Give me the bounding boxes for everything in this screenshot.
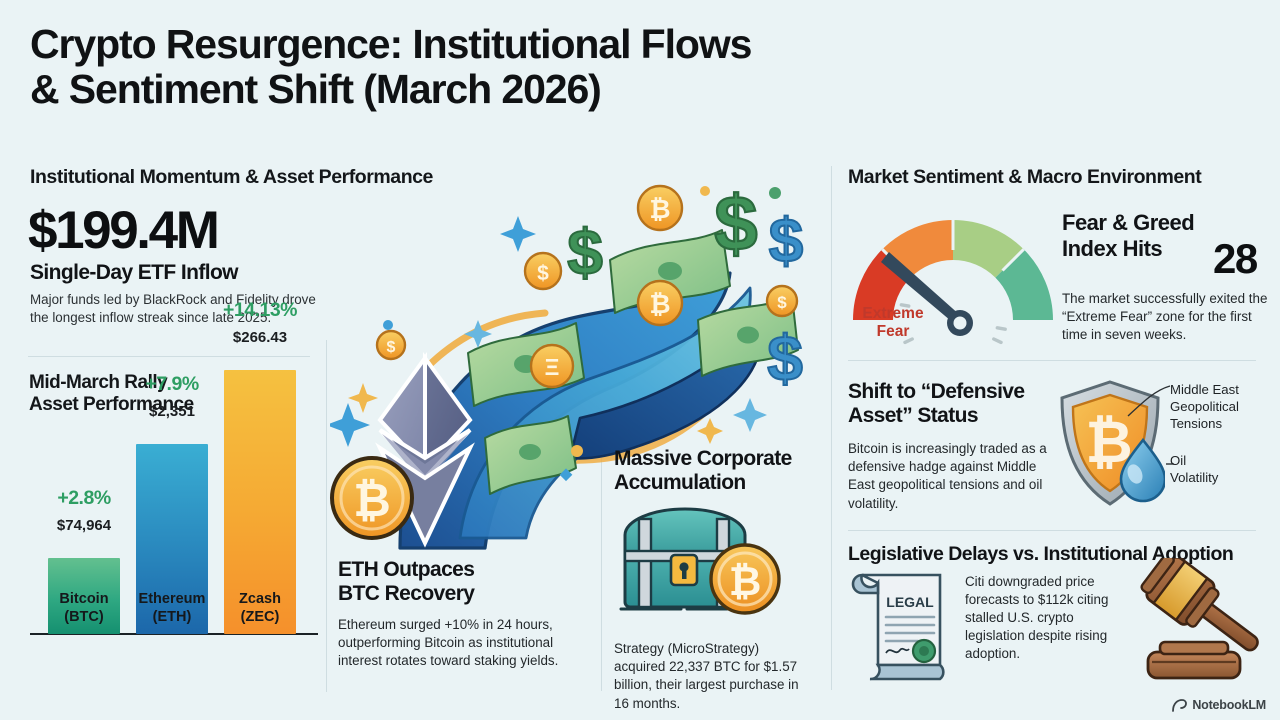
svg-text:$: $ [387, 339, 396, 356]
bar-label-eth: Ethereum (ETH) [139, 591, 206, 626]
corporate-card-body: Strategy (MicroStrategy) acquired 22,337… [614, 640, 814, 713]
svg-text:₿: ₿ [649, 289, 670, 319]
svg-text:₿: ₿ [729, 560, 762, 604]
bar-price-eth: $2,351 [149, 403, 195, 420]
divider-left-center [326, 340, 327, 692]
money-flow-illustration: $ $ $ $ ₿ $ ₿ Ξ $ $ [330, 168, 830, 553]
bar-pct-btc: +2.8% [57, 487, 110, 510]
divider-right-legislative [848, 530, 1256, 531]
asset-performance-bar-chart: +2.8% $74,964 Bitcoin (BTC) +7.9% $2,351… [26, 370, 318, 692]
fear-greed-description: The market successfully exited the “Extr… [1062, 290, 1277, 344]
legal-document-illustration: LEGAL [848, 565, 958, 685]
legislative-body: Citi downgraded price forecasts to $112k… [965, 573, 1115, 663]
watermark-label: NotebookLM [1192, 698, 1266, 712]
svg-text:₿: ₿ [649, 194, 670, 224]
notebooklm-logo-icon [1172, 699, 1187, 712]
divider-right-sentiment [848, 360, 1256, 361]
bar-group-btc: +2.8% $74,964 Bitcoin (BTC) [48, 558, 120, 634]
gauge-zone-label: Extreme Fear [848, 305, 938, 341]
defensive-callout-geopolitical: Middle East Geopolitical Tensions [1170, 382, 1280, 433]
bar-pct-zec: +14.13% [223, 299, 297, 322]
right-section-header: Market Sentiment & Macro Environment [848, 166, 1201, 189]
defensive-callout-oil: Oil Volatility [1170, 453, 1280, 487]
bitcoin-shield-illustration: ₿ [1055, 378, 1165, 513]
bar-label-btc: Bitcoin (BTC) [59, 591, 108, 626]
divider-center-right [831, 166, 832, 690]
fear-greed-value: 28 [1213, 235, 1257, 283]
defensive-asset-title: Shift to “Defensive Asset” Status [848, 380, 1063, 428]
page-title: Crypto Resurgence: Institutional Flows &… [30, 22, 990, 111]
eth-card-title: ETH Outpaces BTC Recovery [338, 558, 588, 605]
bar-group-zec: +14.13% $266.43 Zcash (ZEC) [224, 370, 296, 634]
bar-group-eth: +7.9% $2,351 Ethereum (ETH) [136, 444, 208, 634]
svg-text:$: $ [714, 179, 757, 267]
svg-text:$: $ [537, 262, 549, 285]
divider-left-stats [28, 356, 310, 357]
eth-card-body: Ethereum surged +10% in 24 hours, outper… [338, 616, 590, 671]
corporate-card-title: Massive Corporate Accumulation [614, 447, 814, 494]
svg-text:$: $ [767, 322, 803, 394]
bar-label-zec: Zcash (ZEC) [239, 591, 281, 626]
svg-text:Ξ: Ξ [545, 354, 560, 380]
legal-document-label: LEGAL [886, 594, 934, 610]
kpi-value: $199.4M [28, 200, 217, 261]
watermark: NotebookLM [1172, 698, 1266, 712]
infographic-canvas: Crypto Resurgence: Institutional Flows &… [0, 0, 1280, 720]
svg-text:$: $ [769, 207, 803, 276]
bar-price-zec: $266.43 [233, 329, 287, 346]
bar-pct-eth: +7.9% [145, 373, 198, 396]
gavel-illustration [1130, 558, 1270, 688]
kpi-label: Single-Day ETF Inflow [30, 261, 238, 285]
treasure-chest-illustration: ₿ [613, 497, 803, 627]
svg-text:$: $ [567, 216, 603, 288]
svg-text:₿: ₿ [353, 474, 391, 526]
defensive-asset-body: Bitcoin is increasingly traded as a defe… [848, 440, 1048, 513]
bar-price-btc: $74,964 [57, 517, 111, 534]
svg-text:$: $ [777, 293, 787, 312]
